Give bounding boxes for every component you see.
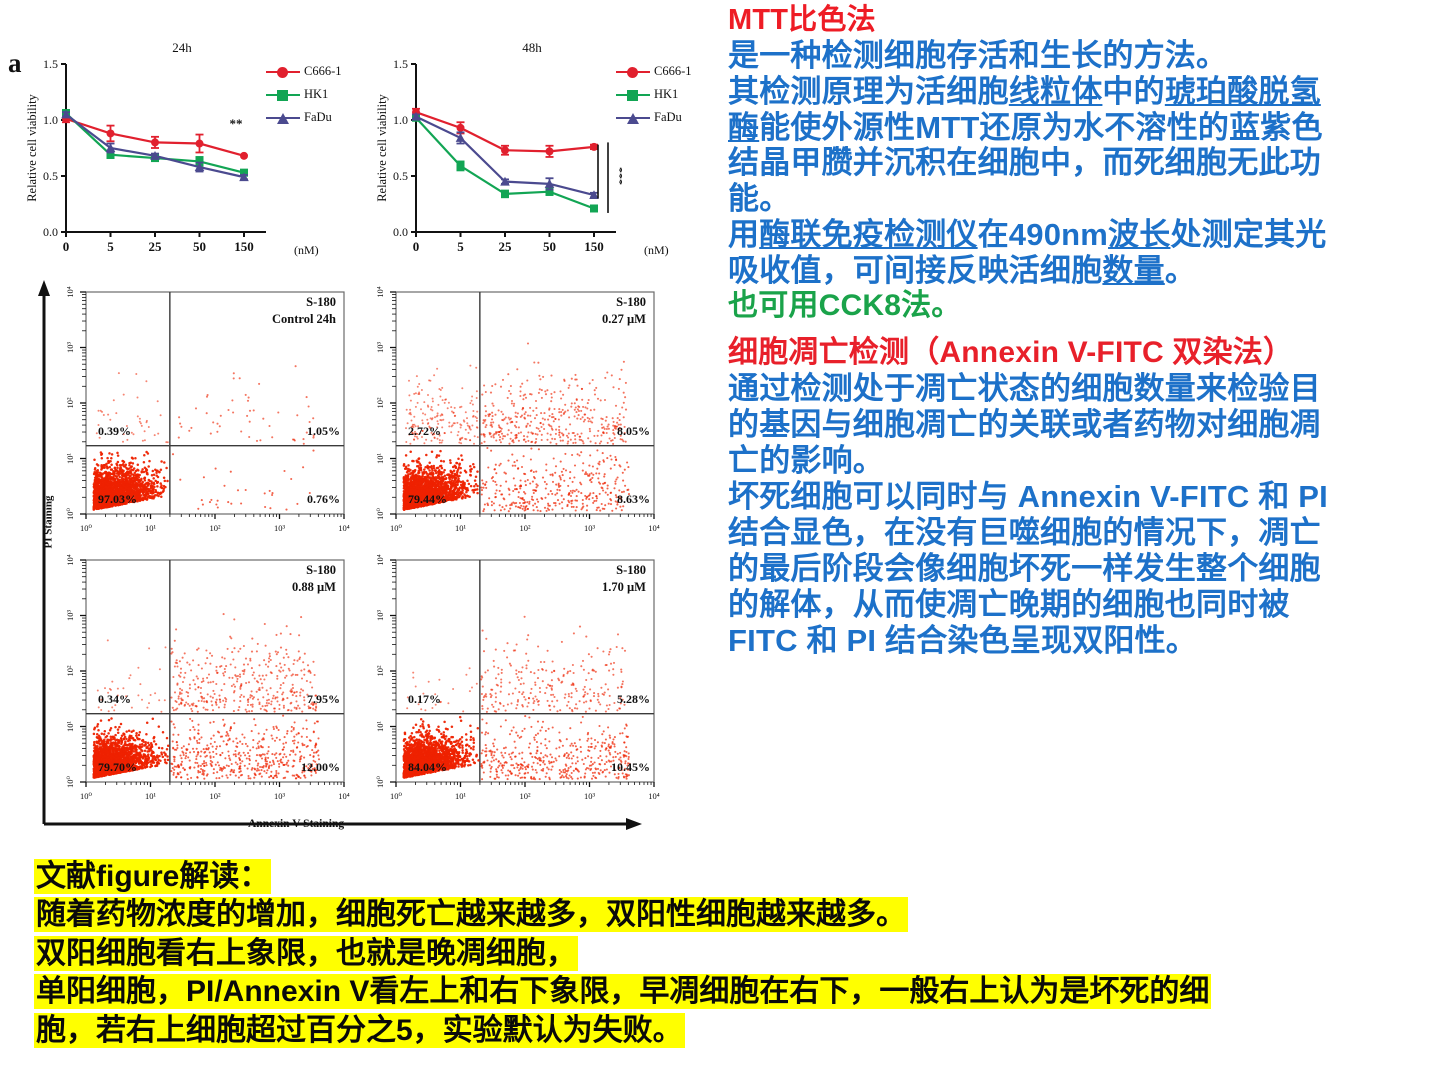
svg-text:Relative cell viability: Relative cell viability [375,93,389,201]
underlined-term: 波长 [1108,217,1170,252]
chart-plot-24h: 0.00.51.01.5052550150Relative cell viabi… [22,54,272,269]
svg-text:0: 0 [413,239,420,254]
x-axis-unit-24h: (nM) [294,243,319,258]
flow-panel-title: S-180Control 24h [272,294,336,328]
chart-legend-48h: C666-1 HK1 FaDu [616,60,692,129]
note-line: 文献figure解读： [34,858,1434,896]
note-line: 双阳细胞看右上象限，也就是晚凋细胞， [34,935,1434,973]
flow-panel-condition: 1.70 µM [602,579,646,596]
mtt-heading: MTT比色法 [728,4,1454,38]
svg-text:1.5: 1.5 [393,57,408,71]
figure-column: a 24h 0.00.51.01.5052550150Relative cell… [0,0,725,860]
svg-text:0.0: 0.0 [43,225,58,239]
note-line: 单阳细胞，PI/Annexin V看左上和右下象限，早凋细胞在右下，一般右上认为… [34,973,1434,1011]
svg-text:10⁰: 10⁰ [390,523,403,533]
mtt-body-paragraph: 是一种检测细胞存活和生长的方法。其检测原理为活细胞线粒体中的琥珀酸脱氢酶能使外源… [728,38,1454,290]
apoptosis-text-line: 的基因与细胞凋亡的关联或者药物对细胞凋 [728,407,1454,443]
quadrant-lower-right-percent: 10.45% [611,760,650,775]
quadrant-upper-left-percent: 0.34% [98,692,131,707]
apoptosis-text-line: 坏死细胞可以同时与 Annexin V-FITC 和 PI [728,479,1454,515]
flow-panel-condition: Control 24h [272,311,336,328]
underlined-term: 线粒体 [1009,74,1103,109]
line-chart-24h: 24h 0.00.51.01.5052550150Relative cell v… [22,38,352,268]
text-run: 。 [1165,253,1196,288]
svg-text:150: 150 [584,239,604,254]
svg-text:10²: 10² [65,397,75,409]
legend-marker-circle-icon [616,66,650,78]
underlined-term: 酶 [728,110,759,145]
flow-panel-cell-line: S-180 [602,562,646,579]
flow-panel-title: S-1801.70 µM [602,562,646,596]
flow-panel-condition: 0.88 µM [292,579,336,596]
text-run: 是一种检测细胞存活和生长的方法。 [728,38,1227,73]
mtt-text-line: 是一种检测细胞存活和生长的方法。 [728,38,1454,74]
legend-label-hk1: HK1 [304,87,328,102]
legend-marker-triangle-icon [616,112,650,124]
svg-text:25: 25 [149,239,163,254]
text-run: 中的 [1102,74,1164,109]
text-run: 吸收值，可间接反映活细胞 [728,253,1102,288]
flow-cytometry-block: PI Staining Annexin V Staining 10⁰10⁰10¹… [30,278,650,856]
svg-text:25: 25 [499,239,513,254]
svg-text:10⁴: 10⁴ [375,286,385,298]
apoptosis-body-paragraph: 通过检测处于凋亡状态的细胞数量来检验目的基因与细胞凋亡的关联或者药物对细胞凋亡的… [728,371,1454,659]
quadrant-upper-right-percent: 5.28% [617,692,650,707]
svg-text:0.5: 0.5 [393,169,408,183]
text-run: 在490nm [978,217,1108,252]
svg-text:1.0: 1.0 [393,113,408,127]
note-line: 胞，若右上细胞超过百分之5，实验默认为失败。 [34,1012,1434,1050]
text-run: 用 [728,217,759,252]
quadrant-upper-right-percent: 7.95% [307,692,340,707]
legend-marker-circle-icon [266,66,300,78]
apoptosis-text-line: 的解体，从而使凋亡晚期的细胞也同时被 [728,587,1454,623]
mtt-text-line: 结晶甲臜并沉积在细胞中，而死细胞无此功 [728,145,1454,181]
legend-marker-triangle-icon [266,112,300,124]
svg-text:10⁴: 10⁴ [648,523,660,533]
svg-text:10³: 10³ [375,342,385,354]
text-run: 能使外源性MTT还原为水不溶性的蓝紫色 [759,110,1323,145]
quadrant-lower-left-percent: 84.04% [408,760,447,775]
svg-text:0.5: 0.5 [43,169,58,183]
apoptosis-text-line: 的最后阶段会像细胞坏死一样发生整个细胞 [728,551,1454,587]
legend-item-hk1: HK1 [616,83,692,106]
legend-item-fadu: FaDu [616,106,692,129]
legend-label-c666-1: C666-1 [654,64,692,79]
legend-item-hk1: HK1 [266,83,342,106]
quadrant-upper-left-percent: 0.17% [408,692,441,707]
svg-text:150: 150 [234,239,254,254]
flow-panel-cell-line: S-180 [272,294,336,311]
svg-text:10³: 10³ [274,523,286,533]
flow-panel-title: S-1800.88 µM [292,562,336,596]
x-axis-unit-48h: (nM) [644,243,669,258]
flow-panel-condition: 0.27 µM [602,311,646,328]
line-chart-48h: 48h 0.00.51.01.5052550150Relative cell v… [372,38,702,268]
svg-text:50: 50 [193,239,206,254]
text-run: 其检测原理为活细胞 [728,74,1009,109]
flow-panel-control-24h: 10⁰10⁰10¹10¹10²10²10³10³10⁴10⁴S-180Contr… [52,278,352,548]
svg-text:10⁰: 10⁰ [65,507,75,520]
flow-panel-grid: 10⁰10⁰10¹10¹10²10²10³10³10⁴10⁴S-180Contr… [52,278,652,818]
mtt-text-line: 用酶联免疫检测仪在490nm波长处测定其光 [728,217,1454,253]
svg-text:10⁴: 10⁴ [65,286,75,298]
svg-text:**: ** [230,116,243,131]
apoptosis-text-line: 通过检测处于凋亡状态的细胞数量来检验目 [728,371,1454,407]
chart-plot-48h: 0.00.51.01.5052550150Relative cell viabi… [372,54,622,269]
quadrant-upper-left-percent: 2.72% [408,424,441,439]
note-line: 随着药物浓度的增加，细胞死亡越来越多，双阳性细胞越来越多。 [34,896,1434,934]
panel-letter-a: a [8,48,22,79]
legend-label-fadu: FaDu [304,110,332,125]
legend-marker-square-icon [616,89,650,101]
flow-panel-title: S-1800.27 µM [602,294,646,328]
svg-text:0.0: 0.0 [393,225,408,239]
svg-text:10²: 10² [209,523,221,533]
quadrant-lower-right-percent: 8.63% [617,492,650,507]
cck8-note: 也可用CCK8法。 [728,289,1454,324]
explanation-text-column: MTT比色法 是一种检测细胞存活和生长的方法。其检测原理为活细胞线粒体中的琥珀酸… [728,4,1454,659]
legend-label-fadu: FaDu [654,110,682,125]
apoptosis-text-line: 亡的影响。 [728,443,1454,479]
svg-text:10⁴: 10⁴ [338,523,350,533]
quadrant-lower-right-percent: 12.00% [301,760,340,775]
svg-text:10¹: 10¹ [375,453,385,465]
legend-label-c666-1: C666-1 [304,64,342,79]
svg-text:10²: 10² [375,397,385,409]
quadrant-lower-left-percent: 79.44% [408,492,447,507]
flow-panel-088um: 10⁰10⁰10¹10¹10²10²10³10³10⁴10⁴S-1800.88 … [52,546,352,816]
apoptosis-text-line: 结合显色，在没有巨噬细胞的情况下，凋亡 [728,515,1454,551]
flow-panel-027um: 10⁰10⁰10¹10¹10²10²10³10³10⁴10⁴S-1800.27 … [362,278,662,548]
flow-panel-170um: 10⁰10⁰10¹10¹10²10²10³10³10⁴10⁴S-1801.70 … [362,546,662,816]
svg-text:10³: 10³ [65,342,75,354]
chart-legend-24h: C666-1 HK1 FaDu [266,60,342,129]
mtt-text-line: 能。 [728,181,1454,217]
mtt-text-line: 吸收值，可间接反映活细胞数量。 [728,253,1454,289]
legend-item-c666-1: C666-1 [266,60,342,83]
mtt-text-line: 其检测原理为活细胞线粒体中的琥珀酸脱氢 [728,74,1454,110]
svg-text:10¹: 10¹ [145,523,157,533]
svg-text:1.0: 1.0 [43,113,58,127]
underlined-term: 数量 [1102,253,1164,288]
legend-marker-square-icon [266,89,300,101]
apoptosis-heading: 细胞凋亡检测（Annexin V-FITC 双染法） [728,336,1454,371]
figure-interpretation-notes: 文献figure解读：随着药物浓度的增加，细胞死亡越来越多，双阳性细胞越来越多。… [34,858,1434,1050]
quadrant-lower-left-percent: 79.70% [98,760,137,775]
quadrant-upper-right-percent: 1.05% [307,424,340,439]
svg-text:1.5: 1.5 [43,57,58,71]
svg-text:10³: 10³ [584,523,596,533]
svg-text:10⁰: 10⁰ [80,523,93,533]
flow-panel-cell-line: S-180 [292,562,336,579]
quadrant-lower-right-percent: 0.76% [307,492,340,507]
mtt-text-line: 酶能使外源性MTT还原为水不溶性的蓝紫色 [728,110,1454,146]
svg-text:0: 0 [63,239,70,254]
svg-text:10²: 10² [519,523,531,533]
text-run: 处测定其光 [1170,217,1326,252]
svg-text:5: 5 [457,239,464,254]
text-run: 能。 [728,181,790,216]
underlined-term: 酶联免疫检测仪 [759,217,977,252]
legend-item-c666-1: C666-1 [616,60,692,83]
quadrant-upper-right-percent: 8.05% [617,424,650,439]
legend-item-fadu: FaDu [266,106,342,129]
quadrant-upper-left-percent: 0.39% [98,424,131,439]
svg-text:10¹: 10¹ [65,453,75,465]
svg-text:5: 5 [107,239,114,254]
svg-text:***: *** [613,167,622,185]
quadrant-lower-left-percent: 97.03% [98,492,137,507]
svg-text:50: 50 [543,239,556,254]
flow-panel-cell-line: S-180 [602,294,646,311]
svg-text:10⁰: 10⁰ [375,507,385,520]
legend-label-hk1: HK1 [654,87,678,102]
underlined-term: 琥珀酸脱氢 [1165,74,1321,109]
svg-text:Relative cell viability: Relative cell viability [25,93,39,201]
text-run: 结晶甲臜并沉积在细胞中，而死细胞无此功 [728,145,1321,180]
apoptosis-text-line: FITC 和 PI 结合染色呈现双阳性。 [728,623,1454,659]
svg-text:10¹: 10¹ [455,523,467,533]
